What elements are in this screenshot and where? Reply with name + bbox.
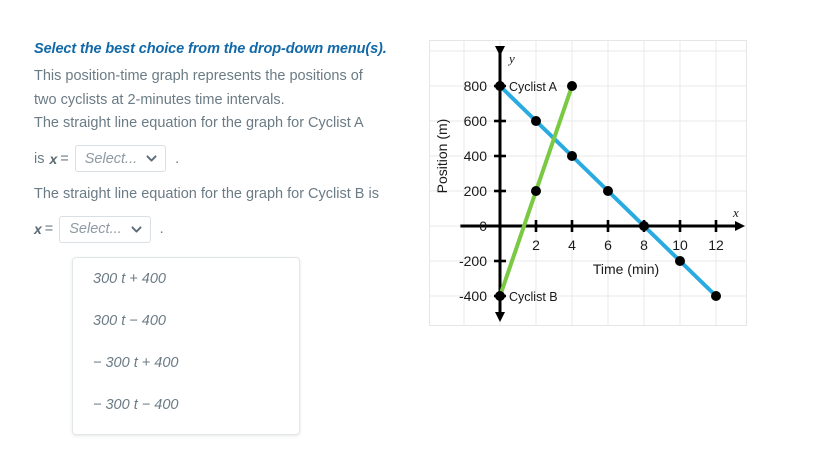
- question-panel: Select the best choice from the drop-dow…: [34, 40, 426, 243]
- y-tick-label: 200: [464, 183, 488, 199]
- cyclist-a-period: .: [175, 151, 179, 167]
- x-tick-label: 12: [708, 237, 724, 253]
- data-point: [567, 81, 577, 91]
- data-point: [567, 151, 577, 161]
- axis-labels: 246810128006004002000-200-400yxTime (min…: [434, 51, 739, 304]
- data-point: [711, 291, 721, 301]
- chevron-down-icon: [131, 224, 142, 235]
- cyclist-b-variable: x: [34, 221, 42, 237]
- data-point: [495, 291, 505, 301]
- y-tick-label: 600: [464, 113, 488, 129]
- cyclist-a-lead-text: is: [34, 151, 44, 167]
- series-annotation: Cyclist B: [509, 290, 558, 304]
- data-point: [495, 81, 505, 91]
- x-tick-label: 10: [672, 237, 688, 253]
- chart-svg: 246810128006004002000-200-400yxTime (min…: [430, 41, 746, 325]
- cyclist-a-answer-row: is x = Select... .: [34, 145, 426, 172]
- cyclist-a-variable: x: [49, 151, 57, 167]
- cyclist-b-period: .: [160, 221, 164, 237]
- cyclist-a-select[interactable]: Select...: [75, 145, 166, 172]
- chevron-down-icon: [146, 153, 157, 164]
- prompt-line-2: two cyclists at 2-minutes time intervals…: [34, 89, 426, 113]
- dropdown-option-1[interactable]: 300 t − 400: [73, 300, 299, 342]
- x-axis-symbol: x: [732, 205, 739, 220]
- cyclist-b-select[interactable]: Select...: [59, 216, 150, 243]
- dropdown-option-0[interactable]: 300 t + 400: [73, 258, 299, 300]
- cyclist-b-equals: =: [45, 221, 53, 237]
- prompt-line-3: The straight line equation for the graph…: [34, 112, 426, 136]
- y-tick-label: -400: [459, 288, 487, 304]
- dropdown-options-menu[interactable]: 300 t + 400 300 t − 400 − 300 t + 400 − …: [72, 257, 300, 435]
- x-tick-label: 6: [604, 237, 612, 253]
- y-tick-label: -200: [459, 253, 487, 269]
- page-root: Select the best choice from the drop-dow…: [0, 0, 838, 471]
- x-axis-title: Time (min): [593, 261, 659, 277]
- prompt-line-1: This position-time graph represents the …: [34, 65, 426, 89]
- y-tick-label: 800: [464, 78, 488, 94]
- y-axis-title: Position (m): [434, 119, 450, 194]
- data-point: [531, 186, 541, 196]
- data-point: [639, 221, 649, 231]
- x-tick-label: 8: [640, 237, 648, 253]
- position-time-graph: 246810128006004002000-200-400yxTime (min…: [429, 40, 747, 326]
- y-axis-symbol: y: [507, 51, 515, 66]
- data-point: [531, 116, 541, 126]
- cyclist-b-answer-row: x = Select... .: [34, 216, 426, 243]
- data-point: [675, 256, 685, 266]
- cyclist-a-equals: =: [60, 151, 68, 167]
- series-annotation: Cyclist A: [509, 80, 558, 94]
- dropdown-option-3[interactable]: − 300 t − 400: [73, 384, 299, 426]
- x-tick-label: 2: [532, 237, 540, 253]
- prompt-heading: Select the best choice from the drop-dow…: [34, 40, 426, 58]
- x-tick-label: 4: [568, 237, 576, 253]
- dropdown-option-2[interactable]: − 300 t + 400: [73, 342, 299, 384]
- y-tick-label: 0: [479, 218, 487, 234]
- prompt-line-4: The straight line equation for the graph…: [34, 183, 426, 207]
- cyclist-b-select-value: Select...: [69, 221, 121, 237]
- cyclist-a-select-value: Select...: [85, 151, 137, 167]
- y-tick-label: 400: [464, 148, 488, 164]
- data-point: [603, 186, 613, 196]
